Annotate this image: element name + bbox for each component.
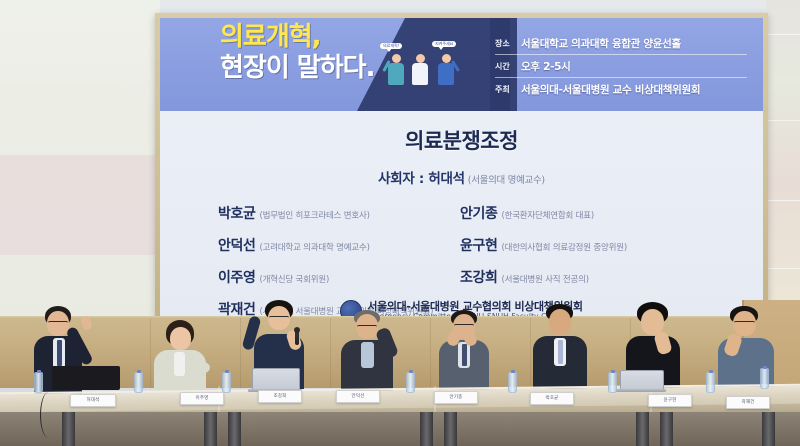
table-leg [660,412,673,446]
table-leg [204,412,217,446]
laptop-base[interactable] [616,389,666,392]
water-bottle [222,372,231,393]
info-row-time: 시간 오후 2-5시 [495,55,747,78]
panelist-person [150,320,216,400]
cable [40,392,57,438]
banner-figure-icon [388,54,404,85]
table-leg [228,412,241,446]
banner-figure-icon [412,54,428,85]
panelist-person [336,308,406,400]
table-leg [444,412,457,446]
table-leg [762,412,775,446]
wood-seam [240,318,241,388]
panelist-row: 박호균(법무법인 히포크라테스 변호사) [218,203,478,223]
panelist-name: 박호균 [218,206,255,222]
panelist-affiliation: (고려대학교 의과대학 명예교수) [259,243,369,253]
nameplate: 윤구현 [648,394,692,407]
nameplate: 이주영 [180,392,224,405]
moderator-affiliation: (서울의대 명예교수) [468,175,545,186]
info-value: 오후 2-5시 [521,59,571,74]
panelist-name: 안덕선 [218,238,255,254]
info-value: 서울의대-서울대병원 교수 비상대책위원회 [521,82,700,97]
info-key: 시간 [495,61,521,72]
panelist-name: 안기종 [460,206,497,222]
nameplate: 박호균 [530,392,574,405]
banner-speech-bubble: 의료개혁! [380,43,402,49]
panelist-affiliation: (한국환자단체연합회 대표) [501,211,594,221]
panelist-name: 이주영 [218,270,255,286]
nameplate: 안덕선 [336,390,380,403]
wall-right-panel [766,0,800,330]
wood-seam [430,318,431,388]
event-info-box: 장소 서울대학교 의과대학 융합관 양윤선홀 시간 오후 2-5시 주최 서울의… [487,27,755,103]
water-bottle [706,372,715,393]
nameplate: 안기종 [434,391,478,404]
banner-speech-bubble: 지켜주세요 [432,41,456,47]
projected-slide: 의료개혁, 현장이 말하다. 의료개혁! [160,18,763,326]
panelist-name: 조강희 [460,270,497,286]
table-leg [636,412,649,446]
info-row-host: 주최 서울의대-서울대병원 교수 비상대책위원회 [495,78,747,100]
nameplate: 허대석 [70,394,116,407]
water-bottle [406,372,415,393]
wall-seam [766,34,800,35]
info-value: 서울대학교 의과대학 융합관 양윤선홀 [521,36,681,51]
panelist-row: 조강희(서울대병원 사직 전공의) [460,267,730,287]
slide-banner: 의료개혁, 현장이 말하다. 의료개혁! [160,18,763,111]
info-key: 주최 [495,84,521,95]
info-key: 장소 [495,38,521,49]
panelist-affiliation: (서울대병원 사직 전공의) [501,275,588,285]
panelist-name: 윤구현 [460,238,497,254]
panelist-affiliation: (대한의사협회 의료감정원 중앙위원) [501,243,627,253]
screenshot-frame: 의료개혁, 현장이 말하다. 의료개혁! [0,0,800,446]
wall-seam [766,200,800,201]
nameplate: 곽재건 [726,396,770,409]
water-bottle [34,372,43,393]
floor [0,412,800,446]
table-leg [62,412,75,446]
moderator-name: 사회자 : 허대석 [378,171,465,187]
panelist-column-right: 안기종(한국환자단체연합회 대표) 윤구현(대한의사협회 의료감정원 중앙위원)… [460,203,730,299]
moderator-line: 사회자 : 허대석(서울의대 명예교수) [160,167,763,187]
info-row-venue: 장소 서울대학교 의과대학 융합관 양윤선홀 [495,32,747,55]
water-bottle [760,368,769,389]
wood-seam [330,318,331,388]
banner-figure-icon [438,54,454,85]
panelist-row: 윤구현(대한의사협회 의료감정원 중앙위원) [460,235,730,255]
projection-screen-frame: 의료개혁, 현장이 말하다. 의료개혁! [155,13,768,331]
panelist-row: 안기종(한국환자단체연합회 대표) [460,203,730,223]
panelist-row: 이주영(개혁신당 국회위원) [218,267,478,287]
water-bottle [508,372,517,393]
wall-seam [766,268,800,269]
wall-seam [766,120,800,121]
table-leg [420,412,433,446]
wall-left-accent-panel [0,155,160,255]
panelist-affiliation: (개혁신당 국회위원) [259,275,329,285]
microphone-icon [295,330,299,345]
panelist-affiliation: (법무법인 히포크라테스 변호사) [259,211,369,221]
monitor-screen [52,366,120,390]
slide-main-title: 의료분쟁조정 [160,125,763,155]
water-bottle [134,372,143,393]
panelist-row: 안덕선(고려대학교 의과대학 명예교수) [218,235,478,255]
nameplate: 조강희 [258,390,302,403]
slide-body: 의료분쟁조정 사회자 : 허대석(서울의대 명예교수) 박호균(법무법인 히포크… [160,111,763,326]
